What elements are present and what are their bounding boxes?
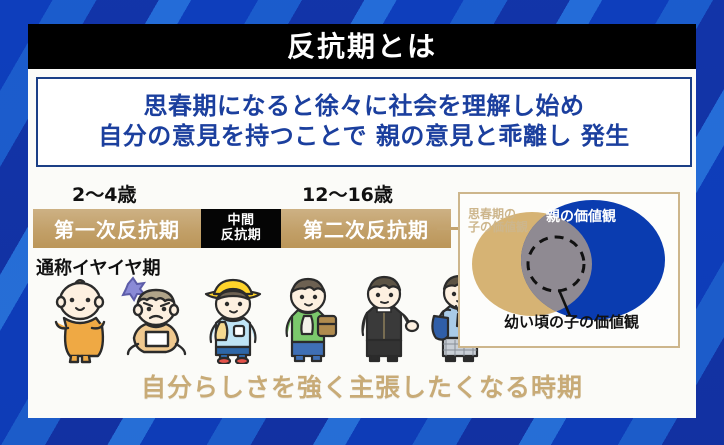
phase-segment-second: 第二次反抗期 [281, 209, 451, 248]
statement-line-2: 自分の意見を持つことで 親の意見と乖離し 発生 [98, 123, 630, 151]
phase-timeline-bar: 第一次反抗期 中間 反抗期 第二次反抗期 [33, 209, 451, 248]
child-illustration-kindergartener [196, 272, 270, 364]
venn-label-teen-values: 思春期の 子の価値観 [468, 208, 528, 235]
connector-bracket-icon [437, 222, 459, 235]
phase-segment-middle-line-1: 中間 [227, 214, 254, 228]
venn-diagram-panel: 思春期の 子の価値観 親の価値観 幼い頃の子の価値観 [458, 192, 680, 348]
phase-segment-middle-line-2: 反抗期 [221, 229, 262, 243]
footer-caption: 自分らしさを強く主張したくなる時期 [0, 368, 724, 404]
statement-line-1: 思春期になると徐々に社会を理解し始め [144, 93, 585, 121]
phase-segment-first: 第一次反抗期 [33, 209, 201, 248]
child-illustration-baby [44, 274, 116, 364]
venn-label-young-values: 幼い頃の子の価値観 [504, 314, 639, 331]
venn-label-parent-values: 親の価値観 [546, 210, 616, 226]
age-label-first-phase: 2〜4歳 [72, 180, 136, 207]
page-title: 反抗期とは [287, 33, 437, 61]
children-illustration-row [28, 272, 458, 364]
title-bar: 反抗期とは [28, 24, 696, 69]
child-illustration-angry-toddler [116, 274, 194, 364]
statement-box: 思春期になると徐々に社会を理解し始め 自分の意見を持つことで 親の意見と乖離し … [36, 77, 692, 167]
venn-label-teen-line-2: 子の価値観 [468, 220, 528, 234]
venn-label-teen-line-1: 思春期の [468, 207, 516, 221]
child-illustration-middle-school-student [350, 270, 424, 364]
phase-segment-middle: 中間 反抗期 [201, 209, 281, 248]
infographic-root: 反抗期とは 思春期になると徐々に社会を理解し始め 自分の意見を持つことで 親の意… [0, 0, 724, 445]
child-illustration-elementary-student [274, 272, 348, 364]
age-label-second-phase: 12〜16歳 [302, 180, 393, 207]
